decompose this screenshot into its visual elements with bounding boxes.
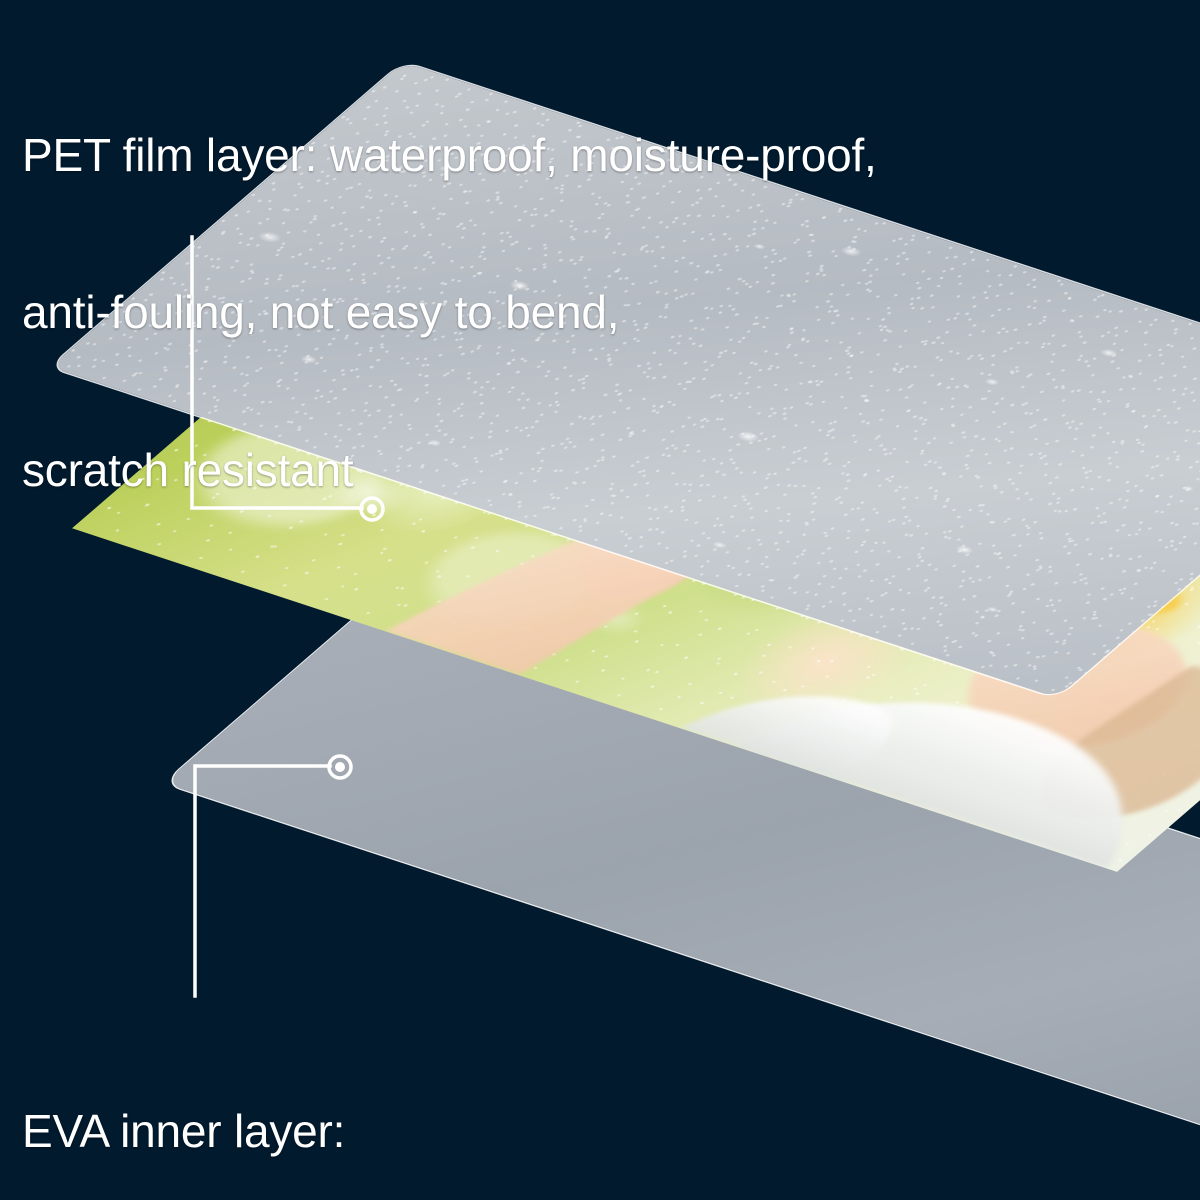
pet-callout-line-1: PET film layer: waterproof, moisture-pro…: [22, 129, 877, 181]
eva-callout-text: EVA inner layer: single piece evenly coa…: [22, 1000, 556, 1200]
pet-callout-text: PET film layer: waterproof, moisture-pro…: [22, 24, 877, 601]
pet-callout-line-2: anti-fouling, not easy to bend,: [22, 286, 877, 338]
eva-callout-line-1: EVA inner layer:: [22, 1105, 556, 1157]
pet-callout-line-3: scratch resistant: [22, 444, 877, 496]
infographic-canvas: PET film layer: waterproof, moisture-pro…: [0, 0, 1200, 1200]
